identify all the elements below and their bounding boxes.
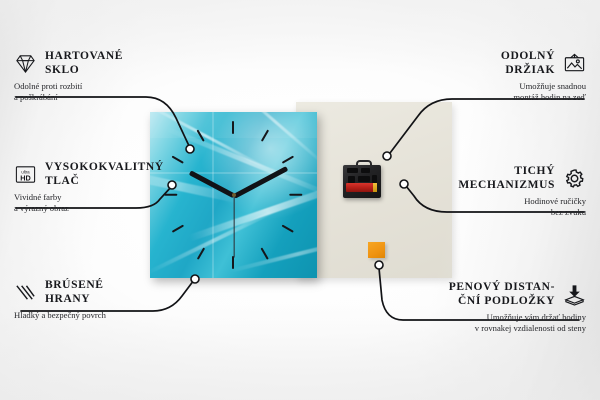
hour-tick bbox=[289, 194, 302, 196]
mechanism-vent bbox=[361, 168, 370, 173]
feature-silent-mechanism: TICHÝ MECHANIZMUS Hodinové ručičky bez z… bbox=[414, 165, 586, 217]
feature-description: Hladký a bezpečný povrch bbox=[14, 310, 186, 321]
hour-tick bbox=[172, 225, 184, 233]
feature-title: VYSOKOKVALITNÝ TLAČ bbox=[45, 161, 164, 188]
feature-description: Umožňuje vám držať hodiny v rovnakej vzd… bbox=[404, 312, 586, 333]
feature-polished-edges: BRÚSENÉ HRANY Hladký a bezpečný povrch bbox=[14, 279, 186, 321]
hour-hand bbox=[188, 171, 234, 198]
feature-description: Hodinové ručičky bez zvuku bbox=[414, 196, 586, 217]
feature-title: HARTOVANÉ SKLO bbox=[45, 50, 123, 77]
feature-high-quality-print: ultra HD VYSOKOKVALITNÝ TLAČ Vividné far… bbox=[14, 161, 186, 213]
stack-down-arrow-icon bbox=[563, 283, 586, 306]
hour-tick bbox=[232, 256, 234, 269]
hour-tick bbox=[261, 129, 269, 141]
diamond-icon bbox=[14, 52, 37, 75]
feature-description: Umožňuje snadnou montáž hodin na zeď bbox=[414, 81, 586, 102]
feature-foam-spacers: PENOVÝ DISTAN- ČNÍ PODLOŽKY Umožňuje vám… bbox=[404, 281, 586, 333]
foam-pad bbox=[368, 242, 385, 258]
mechanism-vent bbox=[348, 176, 355, 183]
mechanism-vent bbox=[372, 175, 377, 183]
minute-hand bbox=[232, 166, 287, 198]
mechanism-body bbox=[343, 165, 381, 198]
product-photo bbox=[140, 100, 452, 290]
hour-tick bbox=[261, 247, 269, 259]
infographic-stage: HARTOVANÉ SKLO Odolné proti rozbití a po… bbox=[0, 0, 600, 400]
hour-tick bbox=[232, 121, 234, 134]
clock-mechanism bbox=[343, 160, 381, 198]
feature-tempered-glass: HARTOVANÉ SKLO Odolné proti rozbití a po… bbox=[14, 50, 186, 102]
feature-heading-row: ODOLNÝ DRŽIAK bbox=[414, 50, 586, 77]
second-hand bbox=[233, 195, 234, 257]
feature-title: BRÚSENÉ HRANY bbox=[45, 279, 104, 306]
hour-tick bbox=[282, 225, 294, 233]
feature-description: Vividné farby a výrazný obraz bbox=[14, 192, 186, 213]
feature-title: TICHÝ MECHANIZMUS bbox=[458, 165, 555, 192]
feature-heading-row: BRÚSENÉ HRANY bbox=[14, 279, 186, 306]
feature-description: Odolné proti rozbití a poškrábání bbox=[14, 81, 186, 102]
hour-tick bbox=[197, 247, 205, 259]
hour-tick bbox=[197, 129, 205, 141]
hour-tick bbox=[282, 156, 294, 164]
battery-terminal bbox=[373, 183, 377, 192]
feature-heading-row: TICHÝ MECHANIZMUS bbox=[414, 165, 586, 192]
ultra-hd-icon: ultra HD bbox=[14, 163, 37, 186]
gear-icon bbox=[563, 167, 586, 190]
feature-heading-row: PENOVÝ DISTAN- ČNÍ PODLOŽKY bbox=[404, 281, 586, 308]
svg-text:HD: HD bbox=[20, 173, 31, 182]
feature-title: PENOVÝ DISTAN- ČNÍ PODLOŽKY bbox=[449, 281, 555, 308]
edges-icon bbox=[14, 281, 37, 304]
mechanism-vent bbox=[347, 168, 358, 173]
mechanism-vent bbox=[358, 176, 370, 182]
feature-heading-row: ultra HD VYSOKOKVALITNÝ TLAČ bbox=[14, 161, 186, 188]
feature-heading-row: HARTOVANÉ SKLO bbox=[14, 50, 186, 77]
feature-durable-holder: ODOLNÝ DRŽIAK Umožňuje snadnou montáž ho… bbox=[414, 50, 586, 102]
feature-title: ODOLNÝ DRŽIAK bbox=[501, 50, 555, 77]
hands-hub bbox=[232, 193, 236, 197]
picture-frame-icon bbox=[563, 52, 586, 75]
